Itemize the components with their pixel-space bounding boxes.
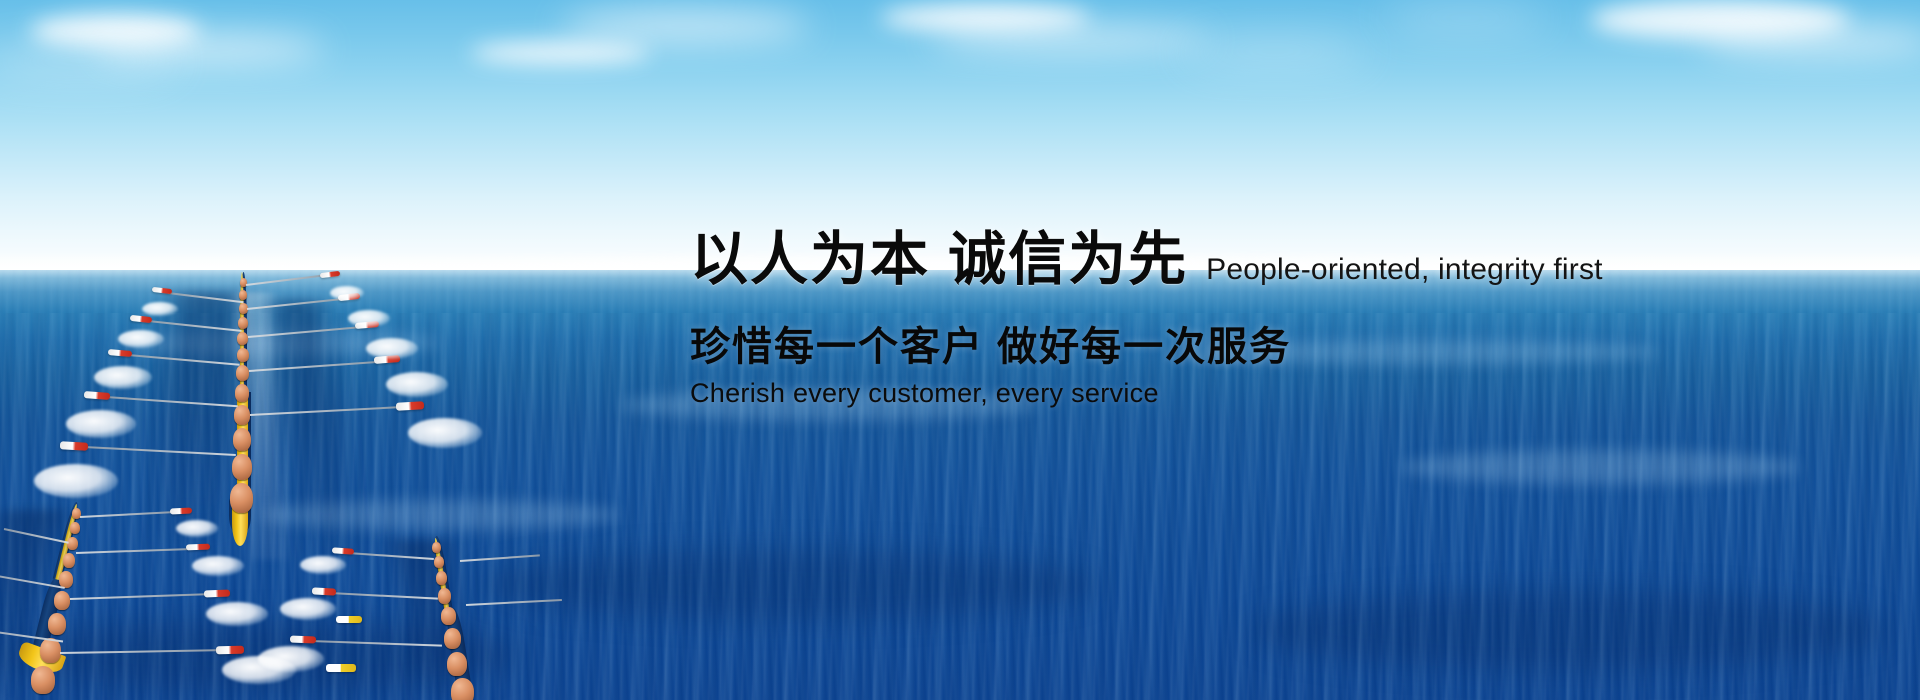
water-splash: [258, 646, 324, 672]
headline-row: 以人为本 诚信为先 People-oriented, integrity fir…: [690, 228, 1850, 292]
oar-blade: [326, 664, 356, 672]
subline-chinese: 珍惜每一个客户 做好每一次服务: [690, 314, 1850, 372]
rower: [444, 628, 461, 649]
rower: [434, 556, 444, 568]
rower: [438, 588, 451, 604]
rower: [432, 542, 441, 553]
rower: [441, 607, 456, 625]
oar-blade: [290, 636, 316, 644]
oar-blade: [332, 547, 354, 555]
oar: [466, 599, 562, 606]
slogan-block: 以人为本 诚信为先 People-oriented, integrity fir…: [690, 228, 1850, 409]
water-splash: [300, 556, 346, 574]
oar-blade: [336, 616, 362, 623]
right-rowing-eight: [0, 0, 700, 700]
rower: [451, 678, 474, 700]
water-splash: [280, 598, 336, 620]
hero-banner: 以人为本 诚信为先 People-oriented, integrity fir…: [0, 0, 1920, 700]
rower: [436, 571, 447, 585]
oar-blade: [312, 587, 336, 595]
subline-english: Cherish every customer, every service: [690, 378, 1850, 409]
oar: [460, 554, 540, 562]
headline-chinese: 以人为本 诚信为先: [690, 228, 1188, 292]
headline-english: People-oriented, integrity first: [1206, 253, 1603, 287]
rower: [447, 652, 467, 676]
